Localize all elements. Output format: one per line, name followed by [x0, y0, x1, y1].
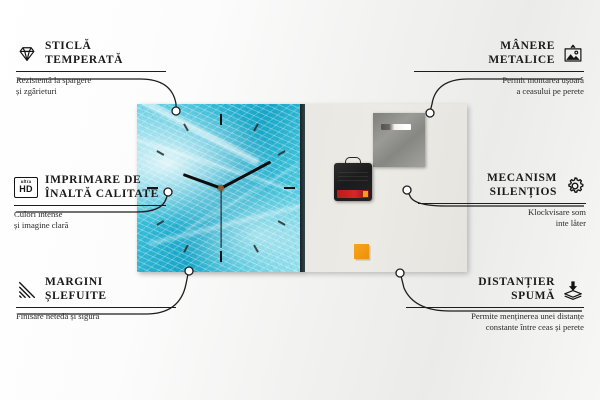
callout-title-line2: ȘLEFUITE: [45, 290, 107, 304]
callout-sub-line2: constante între ceas și perete: [406, 322, 584, 333]
hanger-slot: [381, 124, 411, 130]
callout-sub-line1: Permit montarea ușoară: [414, 75, 584, 86]
callout-sub-line1: Permite menținerea unei distanțe: [406, 311, 584, 322]
gear-icon: [564, 175, 586, 197]
callout-sticla-temperata: STICLĂ TEMPERATĂ Rezistentă la spargere …: [16, 40, 166, 96]
callout-sub-line1: Finisare netedă și sigură: [16, 311, 176, 322]
callout-sub-line1: Culori intense: [14, 209, 166, 220]
foam-spacer-icon: [562, 279, 584, 301]
callout-sub-line2: a ceasului pe perete: [414, 86, 584, 97]
callout-rule: [16, 71, 166, 72]
clock-center-cap: [218, 185, 224, 191]
battery-terminal: [363, 191, 368, 197]
callout-title-line1: STICLĂ: [45, 40, 123, 54]
clock-second-hand: [220, 128, 221, 188]
callout-title-line2: SILENȚIOS: [487, 186, 557, 200]
ultra-hd-icon: ultra HD: [14, 177, 38, 199]
callout-sub-line1: Rezistentă la spargere: [16, 75, 166, 86]
callout-rule: [418, 203, 586, 204]
picture-frame-icon: [562, 43, 584, 65]
mechanism-label: [338, 169, 368, 181]
callout-margini-slefuite: MARGINI ȘLEFUITE Finisare netedă și sigu…: [16, 276, 176, 322]
polished-edges-icon: [16, 279, 38, 301]
callout-title-line2: SPUMĂ: [478, 290, 555, 304]
infographic-canvas: STICLĂ TEMPERATĂ Rezistentă la spargere …: [0, 0, 600, 400]
callout-imprimare-calitate: ultra HD IMPRIMARE DE ÎNALTĂ CALITATE Cu…: [14, 174, 166, 230]
callout-title-line2: TEMPERATĂ: [45, 54, 123, 68]
callout-mecanism-silentios: MECANISM SILENȚIOS Klockvisare som inte …: [418, 172, 586, 228]
callout-title-line1: MARGINI: [45, 276, 107, 290]
callout-title-line2: ÎNALTĂ CALITATE: [45, 188, 159, 202]
callout-sub-line2: și zgârieturi: [16, 86, 166, 97]
callout-rule: [14, 205, 166, 206]
callout-title-line1: MÂNERE: [488, 40, 555, 54]
callout-rule: [16, 307, 176, 308]
clock-mechanism: [334, 163, 372, 201]
mechanism-loop: [345, 157, 361, 166]
callout-sub-line1: Klockvisare som: [418, 207, 586, 218]
callout-title-line1: IMPRIMARE DE: [45, 174, 159, 188]
diamond-icon: [16, 43, 38, 65]
callout-sub-line2: și imagine clară: [14, 220, 166, 231]
metal-hanger-plate: [373, 113, 425, 167]
callout-distantier-spuma: DISTANȚIER SPUMĂ Permite menținerea unei…: [406, 276, 584, 332]
callout-rule: [406, 307, 584, 308]
callout-title-line2: METALICE: [488, 54, 555, 68]
ultra-hd-bottom-text: HD: [19, 185, 32, 194]
battery: [337, 190, 369, 198]
callout-title-line1: MECANISM: [487, 172, 557, 186]
callout-manere-metalice: MÂNERE METALICE Permit montarea ușoară a…: [414, 40, 584, 96]
callout-title-line1: DISTANȚIER: [478, 276, 555, 290]
callout-rule: [414, 71, 584, 72]
foam-spacer-pad: [354, 244, 369, 259]
callout-sub-line2: inte låter: [418, 218, 586, 229]
